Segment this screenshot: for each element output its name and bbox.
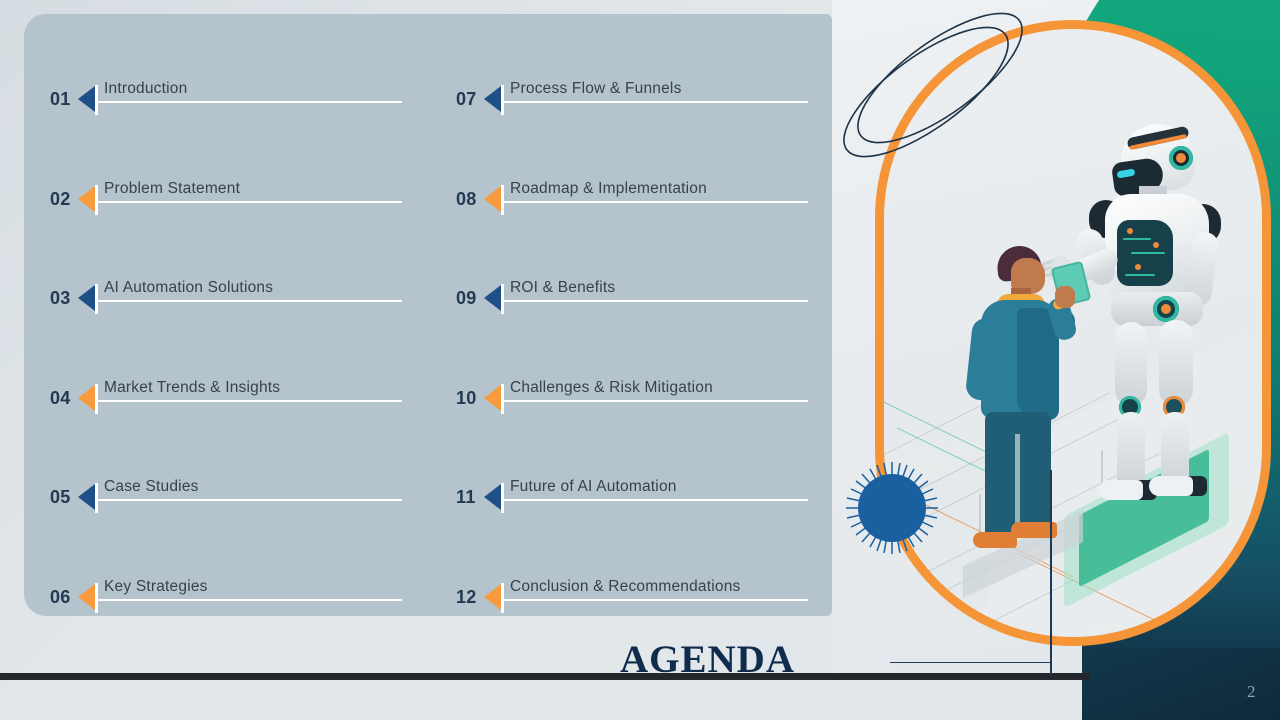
agenda-item-label: Future of AI Automation: [510, 478, 677, 496]
agenda-item-underline: [504, 300, 808, 302]
marker-bar: [501, 483, 504, 513]
agenda-slide: 2 01Introduction02Problem Statement03AI …: [0, 0, 1280, 720]
bottom-divider-rule: [0, 673, 1090, 680]
title-horizontal-rule: [890, 662, 1052, 663]
marker-bar: [95, 384, 98, 414]
marker-bar: [501, 85, 504, 115]
triangle-marker-icon: [78, 86, 95, 112]
agenda-item-05[interactable]: 05Case Studies: [50, 452, 402, 506]
marker-bar: [501, 185, 504, 215]
agenda-item-underline: [504, 499, 808, 501]
marker-bar: [501, 384, 504, 414]
agenda-item-02[interactable]: 02Problem Statement: [50, 154, 402, 208]
agenda-item-label: Roadmap & Implementation: [510, 180, 707, 198]
triangle-marker-icon: [484, 484, 501, 510]
agenda-item-underline: [504, 599, 808, 601]
triangle-marker-icon: [78, 186, 95, 212]
agenda-item-number: 05: [50, 488, 71, 506]
triangle-marker-icon: [484, 584, 501, 610]
agenda-item-underline: [98, 400, 402, 402]
agenda-item-number: 10: [456, 389, 477, 407]
agenda-item-10[interactable]: 10Challenges & Risk Mitigation: [456, 353, 808, 407]
agenda-item-number: 03: [50, 289, 71, 307]
triangle-marker-icon: [78, 584, 95, 610]
agenda-item-label: Market Trends & Insights: [104, 379, 280, 397]
agenda-item-label: AI Automation Solutions: [104, 279, 273, 297]
agenda-item-label: Key Strategies: [104, 578, 208, 596]
agenda-panel: 01Introduction02Problem Statement03AI Au…: [24, 14, 832, 616]
marker-bar: [95, 483, 98, 513]
agenda-item-04[interactable]: 04Market Trends & Insights: [50, 353, 402, 407]
triangle-marker-icon: [78, 285, 95, 311]
page-title: Agenda: [620, 626, 795, 682]
agenda-item-underline: [98, 300, 402, 302]
agenda-item-underline: [98, 101, 402, 103]
agenda-item-06[interactable]: 06Key Strategies: [50, 552, 402, 606]
agenda-item-number: 04: [50, 389, 71, 407]
agenda-item-number: 01: [50, 90, 71, 108]
triangle-marker-icon: [484, 186, 501, 212]
title-vertical-rule: [1050, 470, 1052, 676]
agenda-item-number: 08: [456, 190, 477, 208]
marker-bar: [501, 583, 504, 613]
agenda-column-right: 07Process Flow & Funnels08Roadmap & Impl…: [428, 14, 832, 616]
agenda-item-label: Problem Statement: [104, 180, 240, 198]
agenda-item-underline: [98, 499, 402, 501]
agenda-item-number: 07: [456, 90, 477, 108]
agenda-item-label: Challenges & Risk Mitigation: [510, 379, 713, 397]
agenda-column-left: 01Introduction02Problem Statement03AI Au…: [24, 14, 428, 616]
marker-bar: [95, 284, 98, 314]
triangle-marker-icon: [484, 385, 501, 411]
agenda-item-number: 02: [50, 190, 71, 208]
marker-bar: [501, 284, 504, 314]
agenda-item-12[interactable]: 12Conclusion & Recommendations: [456, 552, 808, 606]
blue-starburst-icon: [844, 460, 940, 556]
triangle-marker-icon: [484, 86, 501, 112]
agenda-item-09[interactable]: 09ROI & Benefits: [456, 253, 808, 307]
agenda-item-number: 11: [456, 488, 476, 506]
agenda-item-label: Introduction: [104, 80, 187, 98]
agenda-item-08[interactable]: 08Roadmap & Implementation: [456, 154, 808, 208]
agenda-item-underline: [98, 599, 402, 601]
agenda-item-label: ROI & Benefits: [510, 279, 615, 297]
marker-bar: [95, 583, 98, 613]
agenda-item-number: 12: [456, 588, 477, 606]
page-number: 2: [1247, 682, 1256, 702]
agenda-item-07[interactable]: 07Process Flow & Funnels: [456, 54, 808, 108]
agenda-item-label: Conclusion & Recommendations: [510, 578, 740, 596]
agenda-item-underline: [504, 201, 808, 203]
agenda-item-01[interactable]: 01Introduction: [50, 54, 402, 108]
agenda-item-03[interactable]: 03AI Automation Solutions: [50, 253, 402, 307]
triangle-marker-icon: [484, 285, 501, 311]
agenda-item-underline: [504, 400, 808, 402]
decorative-ellipse-rings: [832, 0, 1052, 212]
marker-bar: [95, 85, 98, 115]
agenda-item-number: 09: [456, 289, 477, 307]
triangle-marker-icon: [78, 484, 95, 510]
agenda-item-label: Process Flow & Funnels: [510, 80, 682, 98]
triangle-marker-icon: [78, 385, 95, 411]
agenda-item-label: Case Studies: [104, 478, 199, 496]
agenda-item-11[interactable]: 11Future of AI Automation: [456, 452, 808, 506]
marker-bar: [95, 185, 98, 215]
agenda-item-number: 06: [50, 588, 71, 606]
agenda-item-underline: [504, 101, 808, 103]
illustration-panel: 2: [832, 0, 1280, 720]
agenda-item-underline: [98, 201, 402, 203]
